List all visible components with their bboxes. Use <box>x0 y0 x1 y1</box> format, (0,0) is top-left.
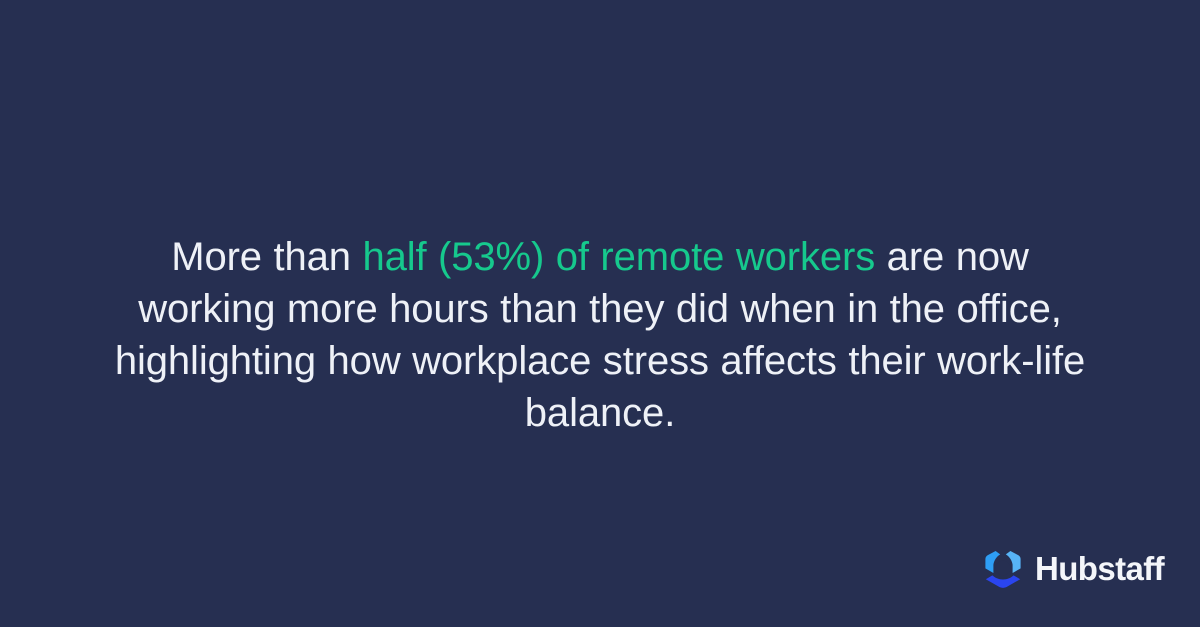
statement-block: More than half (53%) of remote workers a… <box>0 231 1200 439</box>
logo-blade-bottom <box>986 575 1020 587</box>
brand-wordmark: Hubstaff <box>1035 552 1164 585</box>
logo-center-disc <box>996 561 1010 575</box>
brand-lockup: Hubstaff <box>982 547 1164 589</box>
stat-card: More than half (53%) of remote workers a… <box>0 0 1200 627</box>
hubstaff-logo-mark-icon <box>982 547 1024 589</box>
statement-text: More than half (53%) of remote workers a… <box>100 231 1100 439</box>
statement-highlight: half (53%) of remote workers <box>362 235 875 279</box>
statement-lead: More than <box>171 235 362 279</box>
